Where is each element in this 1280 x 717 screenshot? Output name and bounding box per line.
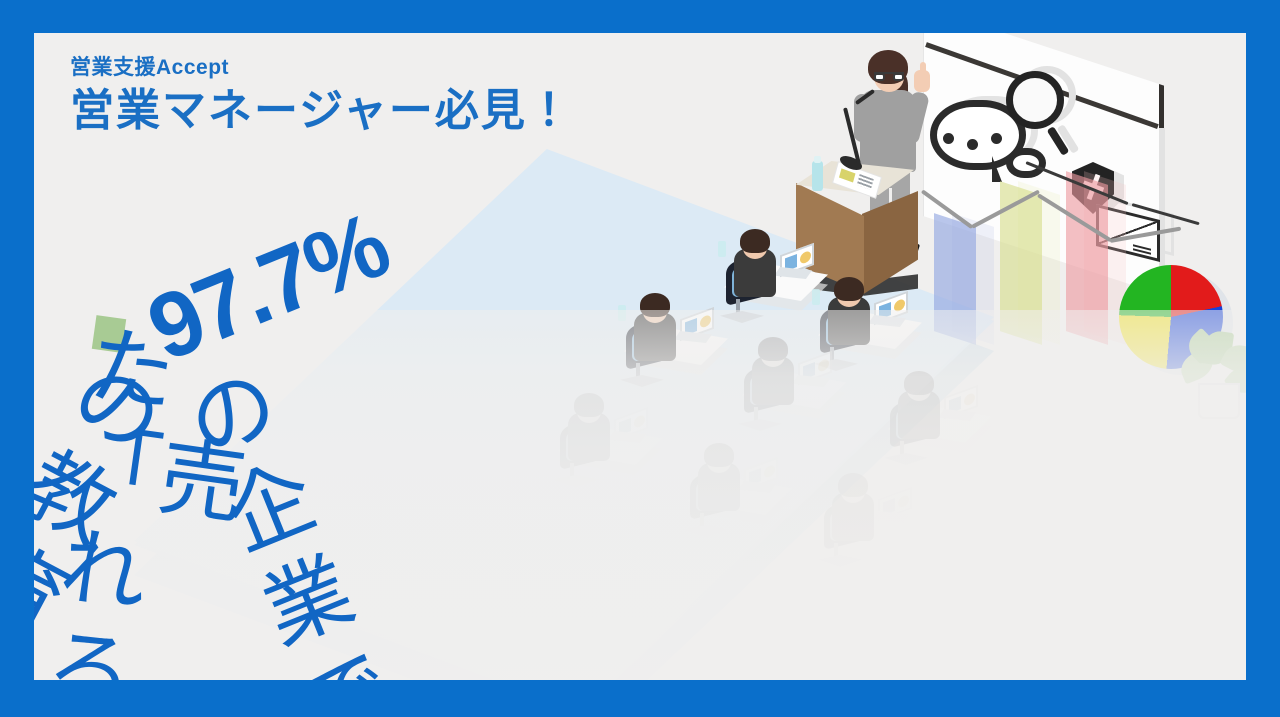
laptop-icon (738, 463, 778, 493)
line-segment (1037, 193, 1112, 242)
chair-base (684, 525, 728, 537)
main-copy: 97.7%の企業で効果を出し た「売れる営業チーム」 の教育方法とは (94, 291, 1232, 379)
chair-base (738, 419, 782, 431)
attendee-hair (838, 473, 868, 497)
magnifier-icon (1006, 71, 1064, 129)
eyebrow-label: 営業支援Accept (70, 55, 573, 80)
bubble-dot (991, 133, 1002, 144)
bubble-dot (967, 139, 978, 150)
line-segment (1110, 227, 1182, 243)
attendee (670, 435, 790, 555)
chair-base (818, 555, 862, 567)
attendee-hair (740, 229, 770, 253)
glasses-icon (874, 72, 904, 80)
page-title: 営業マネージャー必見！ (70, 86, 573, 137)
water-bottle-cap (814, 156, 821, 163)
water-bottle (812, 161, 823, 191)
plant-pot (1198, 383, 1240, 419)
chair-base (884, 453, 928, 465)
attendee (804, 465, 924, 585)
slide-frame: 営業支援Accept 営業マネージャー必見！ 97.7%の企業で効果を出し た「… (0, 0, 1280, 717)
slide-panel: 営業支援Accept 営業マネージャー必見！ 97.7%の企業で効果を出し た「… (34, 33, 1246, 680)
header-block: 営業支援Accept 営業マネージャー必見！ (70, 55, 573, 137)
line-segment (971, 190, 1040, 229)
laptop-icon (872, 493, 912, 523)
presenter-finger (920, 62, 926, 78)
attendee-hair (704, 443, 734, 467)
attendee-hair (574, 393, 604, 417)
attendee (540, 385, 660, 505)
chair-base (554, 475, 598, 487)
drink-cup (718, 241, 726, 257)
laptop-icon (938, 391, 978, 421)
laptop-icon (608, 413, 648, 443)
bubble-dot (943, 133, 954, 144)
